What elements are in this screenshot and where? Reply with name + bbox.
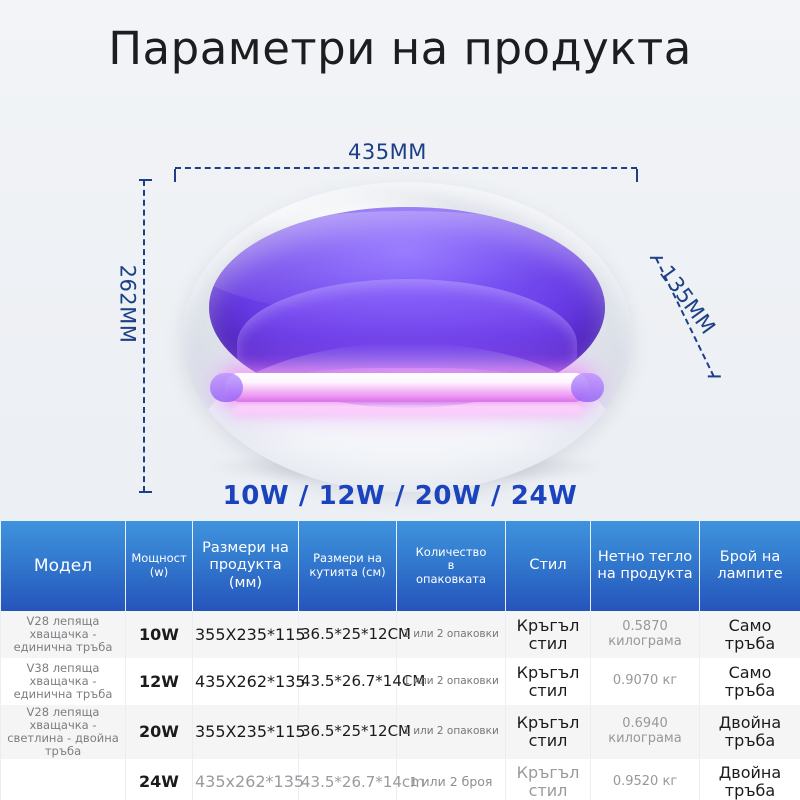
table-row: V28 лепяща хващачка - светлина - двойна … <box>1 705 800 759</box>
column-header-quantity: Количество в опаковката <box>397 521 505 611</box>
uv-tube-cap-right <box>571 373 604 402</box>
wattage-options-label: 10W / 12W / 20W / 24W <box>0 481 800 511</box>
cell-model: V28 лепяща хващачка - единична тръба <box>1 611 125 658</box>
column-header-power: Мощност (w) <box>126 521 192 611</box>
uv-tube-cap-left <box>210 373 243 402</box>
column-header-box-size: Размери на кутията (см) <box>299 521 396 611</box>
cell-product-size: 355X235*115 <box>193 611 298 658</box>
table-body: V28 лепяща хващачка - единична тръба 10W… <box>1 611 800 800</box>
table-row: V38 лепяща хващачка - единична тръба 12W… <box>1 658 800 705</box>
cell-net-weight: 0.9520 кг <box>591 759 699 800</box>
cell-power: 10W <box>126 611 192 658</box>
width-dimension-tick-right <box>636 169 638 182</box>
cell-lamp-count: Двойна тръба <box>700 759 800 800</box>
height-dimension-tick-top <box>139 179 152 181</box>
column-header-style: Стил <box>506 521 590 611</box>
width-dimension-tick-left <box>174 169 176 182</box>
column-header-product-size: Размери на продукта (мм) <box>193 521 298 611</box>
page-title: Параметри на продукта <box>0 22 800 76</box>
specifications-table: Модел Мощност (w) Размери на продукта (м… <box>0 521 800 800</box>
cell-power: 24W <box>126 759 192 800</box>
cell-box-size: 43.5*26.7*14cm <box>299 759 396 800</box>
height-dimension-label: 262MM <box>115 265 139 344</box>
height-dimension-line <box>143 180 145 492</box>
cell-product-size: 355X235*115 <box>193 705 298 759</box>
cell-net-weight: 0.5870 килограма <box>591 611 699 658</box>
product-image-uv-lamp <box>182 182 632 492</box>
cell-model: V38 лепяща хващачка - единична тръба <box>1 658 125 705</box>
cell-power: 20W <box>126 705 192 759</box>
cell-lamp-count: Само тръба <box>700 658 800 705</box>
product-diagram: 435MM 262MM 135MM <box>0 110 800 520</box>
lamp-outer-shell <box>182 182 632 492</box>
uv-tube-reflection <box>232 405 583 422</box>
cell-quantity: 1 или 2 опаковки <box>397 611 505 658</box>
uv-tube <box>225 373 590 402</box>
width-dimension-line <box>175 167 637 169</box>
table-row: V28 лепяща хващачка - единична тръба 10W… <box>1 611 800 658</box>
column-header-net-weight: Нетно тегло на продукта <box>591 521 699 611</box>
width-dimension-label: 435MM <box>348 140 427 164</box>
cell-style: Кръгъл стил <box>506 705 590 759</box>
column-header-model: Модел <box>1 521 125 611</box>
cell-lamp-count: Само тръба <box>700 611 800 658</box>
cell-lamp-count: Двойна тръба <box>700 705 800 759</box>
cell-box-size: 36.5*25*12CM <box>299 705 396 759</box>
depth-dimension-tick-bottom <box>708 375 721 377</box>
depth-dimension-label: 135MM <box>655 261 721 339</box>
cell-model <box>1 759 125 800</box>
table-row: 24W 435x262*135 43.5*26.7*14cm 1 или 2 б… <box>1 759 800 800</box>
cell-quantity: 1 или 2 опаковки <box>397 658 505 705</box>
table-header-row: Модел Мощност (w) Размери на продукта (м… <box>1 521 800 611</box>
cell-product-size: 435X262*135 <box>193 658 298 705</box>
cell-style: Кръгъл стил <box>506 611 590 658</box>
depth-dimension-tick-top <box>650 257 663 259</box>
column-header-lamp-count: Брой на лампите <box>700 521 800 611</box>
cell-product-size: 435x262*135 <box>193 759 298 800</box>
product-spec-page: Параметри на продукта 435MM 262MM 135MM <box>0 0 800 800</box>
cell-model: V28 лепяща хващачка - светлина - двойна … <box>1 705 125 759</box>
cell-net-weight: 0.6940 килограма <box>591 705 699 759</box>
cell-style: Кръгъл стил <box>506 759 590 800</box>
cell-quantity: 1 или 2 броя <box>397 759 505 800</box>
cell-style: Кръгъл стил <box>506 658 590 705</box>
cell-box-size: 36.5*25*12CM <box>299 611 396 658</box>
cell-box-size: 43.5*26.7*14CM <box>299 658 396 705</box>
cell-quantity: 1 или 2 опаковки <box>397 705 505 759</box>
cell-net-weight: 0.9070 кг <box>591 658 699 705</box>
cell-power: 12W <box>126 658 192 705</box>
